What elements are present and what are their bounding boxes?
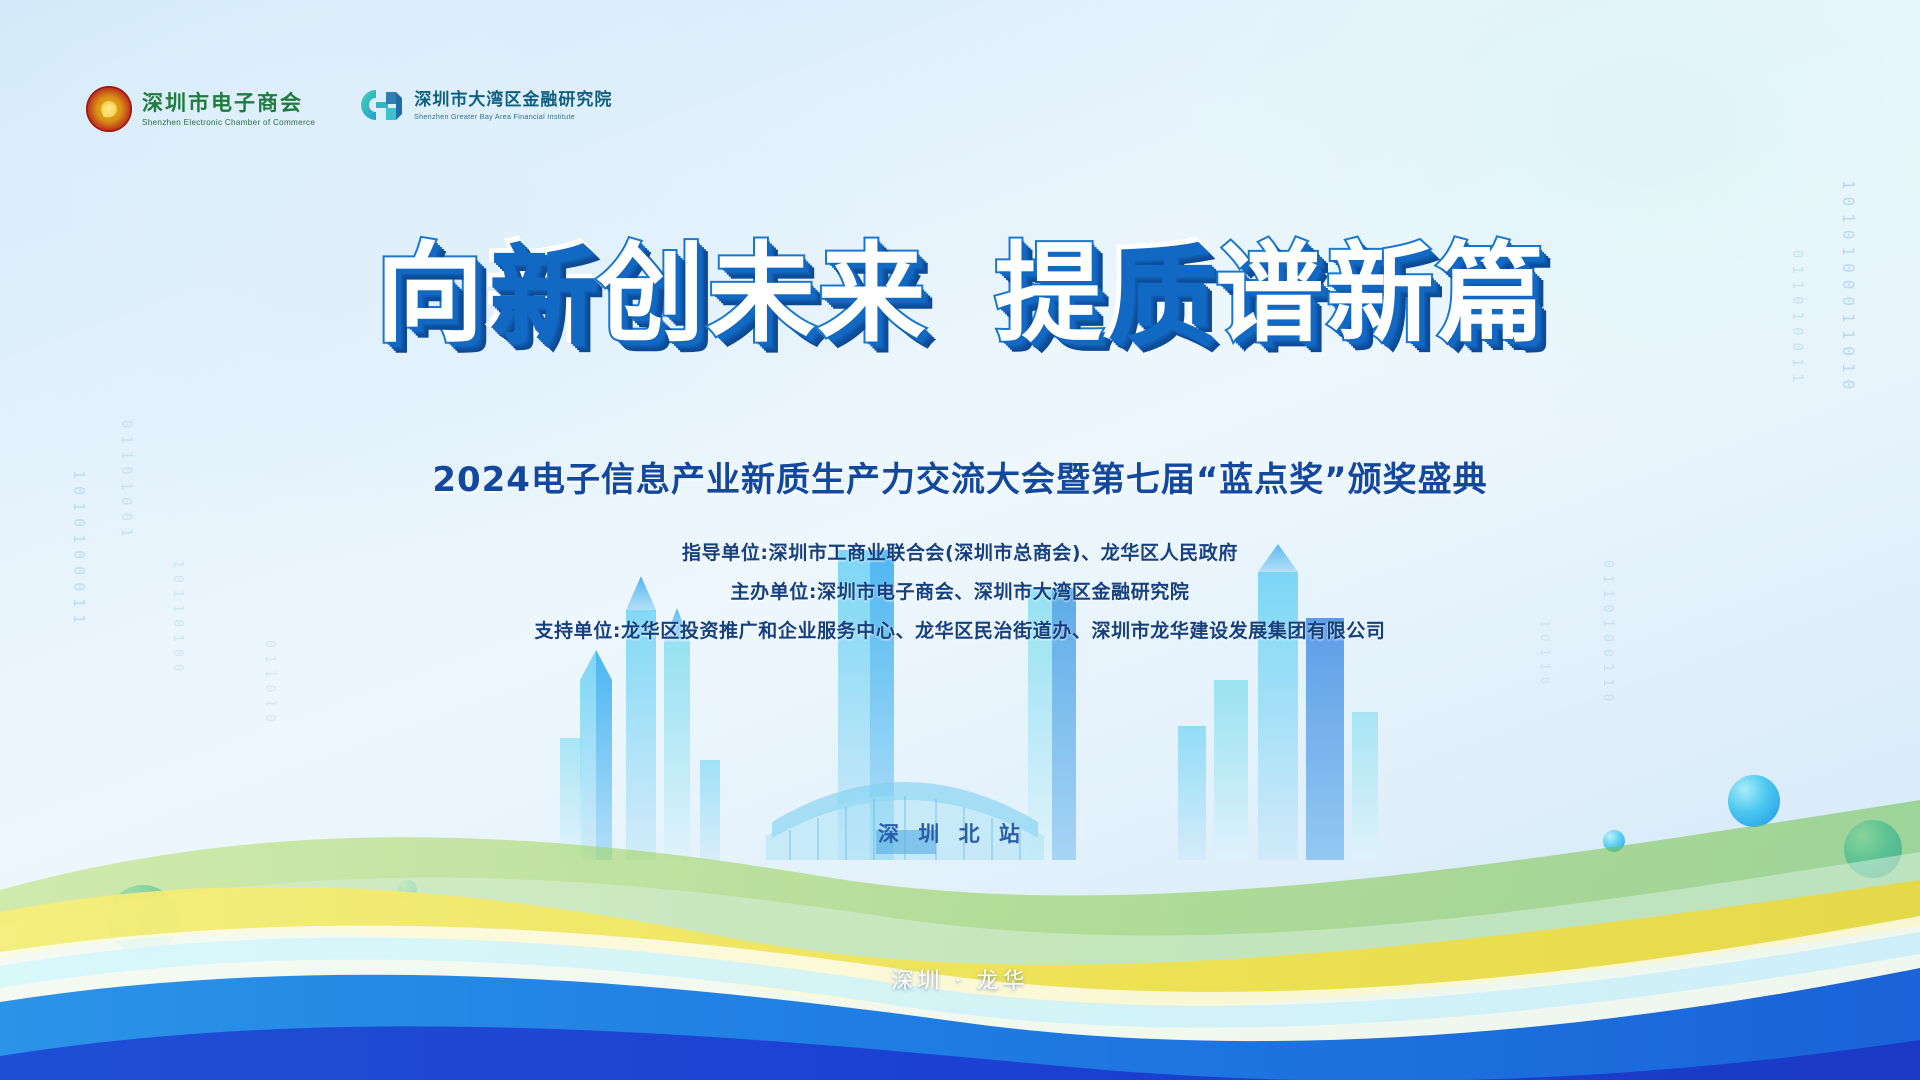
event-subtitle: 2024电子信息产业新质生产力交流大会暨第七届“蓝点奖”颁奖盛典 — [0, 452, 1920, 501]
title-char: 未 — [707, 238, 815, 351]
location-label: 深圳 · 龙华 — [0, 963, 1920, 995]
title-char: 向 — [376, 238, 484, 351]
seal-letter-e: e — [101, 97, 116, 121]
organizer-line-support: 支持单位:龙华区投资推广和企业服务中心、龙华区民治街道办、深圳市龙华建设发展集团… — [534, 616, 1385, 643]
title-char: 谱 — [1215, 238, 1323, 351]
logo-shenzhen-electronic-chamber: e 深圳市电子商会 Shenzhen Electronic Chamber of… — [86, 86, 322, 132]
title-char: 篇 — [1436, 238, 1544, 351]
sponsor-logos: e 深圳市电子商会 Shenzhen Electronic Chamber of… — [86, 86, 612, 132]
organizer-list: 指导单位:深圳市工商业联合会(深圳市总商会)、龙华区人民政府 主办单位:深圳市电… — [0, 538, 1920, 643]
organizer-line-host: 主办单位:深圳市电子商会、深圳市大湾区金融研究院 — [731, 577, 1190, 604]
logo-english-name: Shenzhen Greater Bay Area Financial Inst… — [414, 112, 604, 121]
gbi-logo-icon — [356, 86, 404, 126]
seal-icon: e — [86, 86, 132, 132]
bottom-wave-decoration — [0, 740, 1920, 1080]
logo-gba-financial-institute: 深圳市大湾区金融研究院 Shenzhen Greater Bay Area Fi… — [356, 86, 612, 126]
title-char: 来 — [818, 238, 926, 351]
title-char: 创 — [597, 238, 705, 351]
logo-chinese-name: 深圳市电子商会 — [142, 91, 322, 114]
title-char: 新 — [1326, 238, 1434, 351]
title-char: 新 — [486, 238, 594, 351]
organizer-line-guidance: 指导单位:深圳市工商业联合会(深圳市总商会)、龙华区人民政府 — [682, 538, 1238, 565]
logo-chinese-name: 深圳市大湾区金融研究院 — [414, 91, 612, 110]
title-char: 提 — [994, 238, 1102, 351]
title-char: 质 — [1105, 238, 1213, 351]
main-title: 向 新 创 未 来 提 质 谱 新 篇 — [0, 238, 1920, 351]
logo-english-name: Shenzhen Electronic Chamber of Commerce — [142, 117, 315, 127]
